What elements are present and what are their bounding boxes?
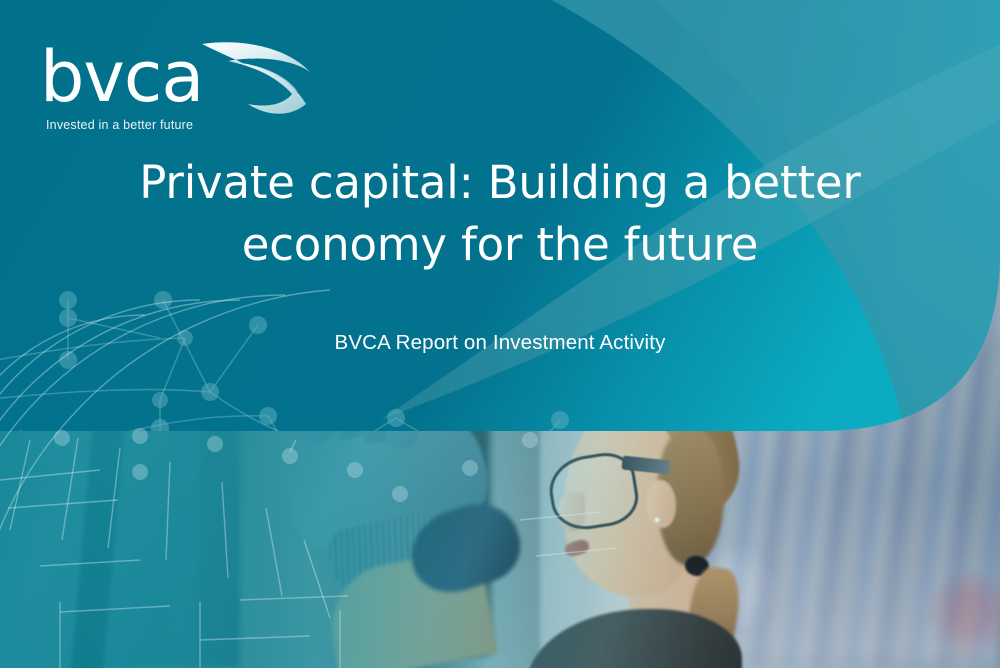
bvca-logo[interactable]: bvca Invested in a better future <box>40 42 290 137</box>
logo-wordmark: bvca <box>40 42 203 112</box>
report-cover-page: bvca Invested in a better future Private… <box>0 0 1000 668</box>
cover-subtitle: BVCA Report on Investment Activity <box>50 331 950 355</box>
photo-teal-tint <box>0 430 1000 668</box>
bvca-swoosh-icon <box>198 38 318 122</box>
cover-title-line-1: Private capital: Building a better <box>50 152 950 214</box>
logo-tagline: Invested in a better future <box>46 118 193 132</box>
cover-title-line-2: economy for the future <box>50 214 950 276</box>
cover-title: Private capital: Building a better econo… <box>50 152 950 276</box>
